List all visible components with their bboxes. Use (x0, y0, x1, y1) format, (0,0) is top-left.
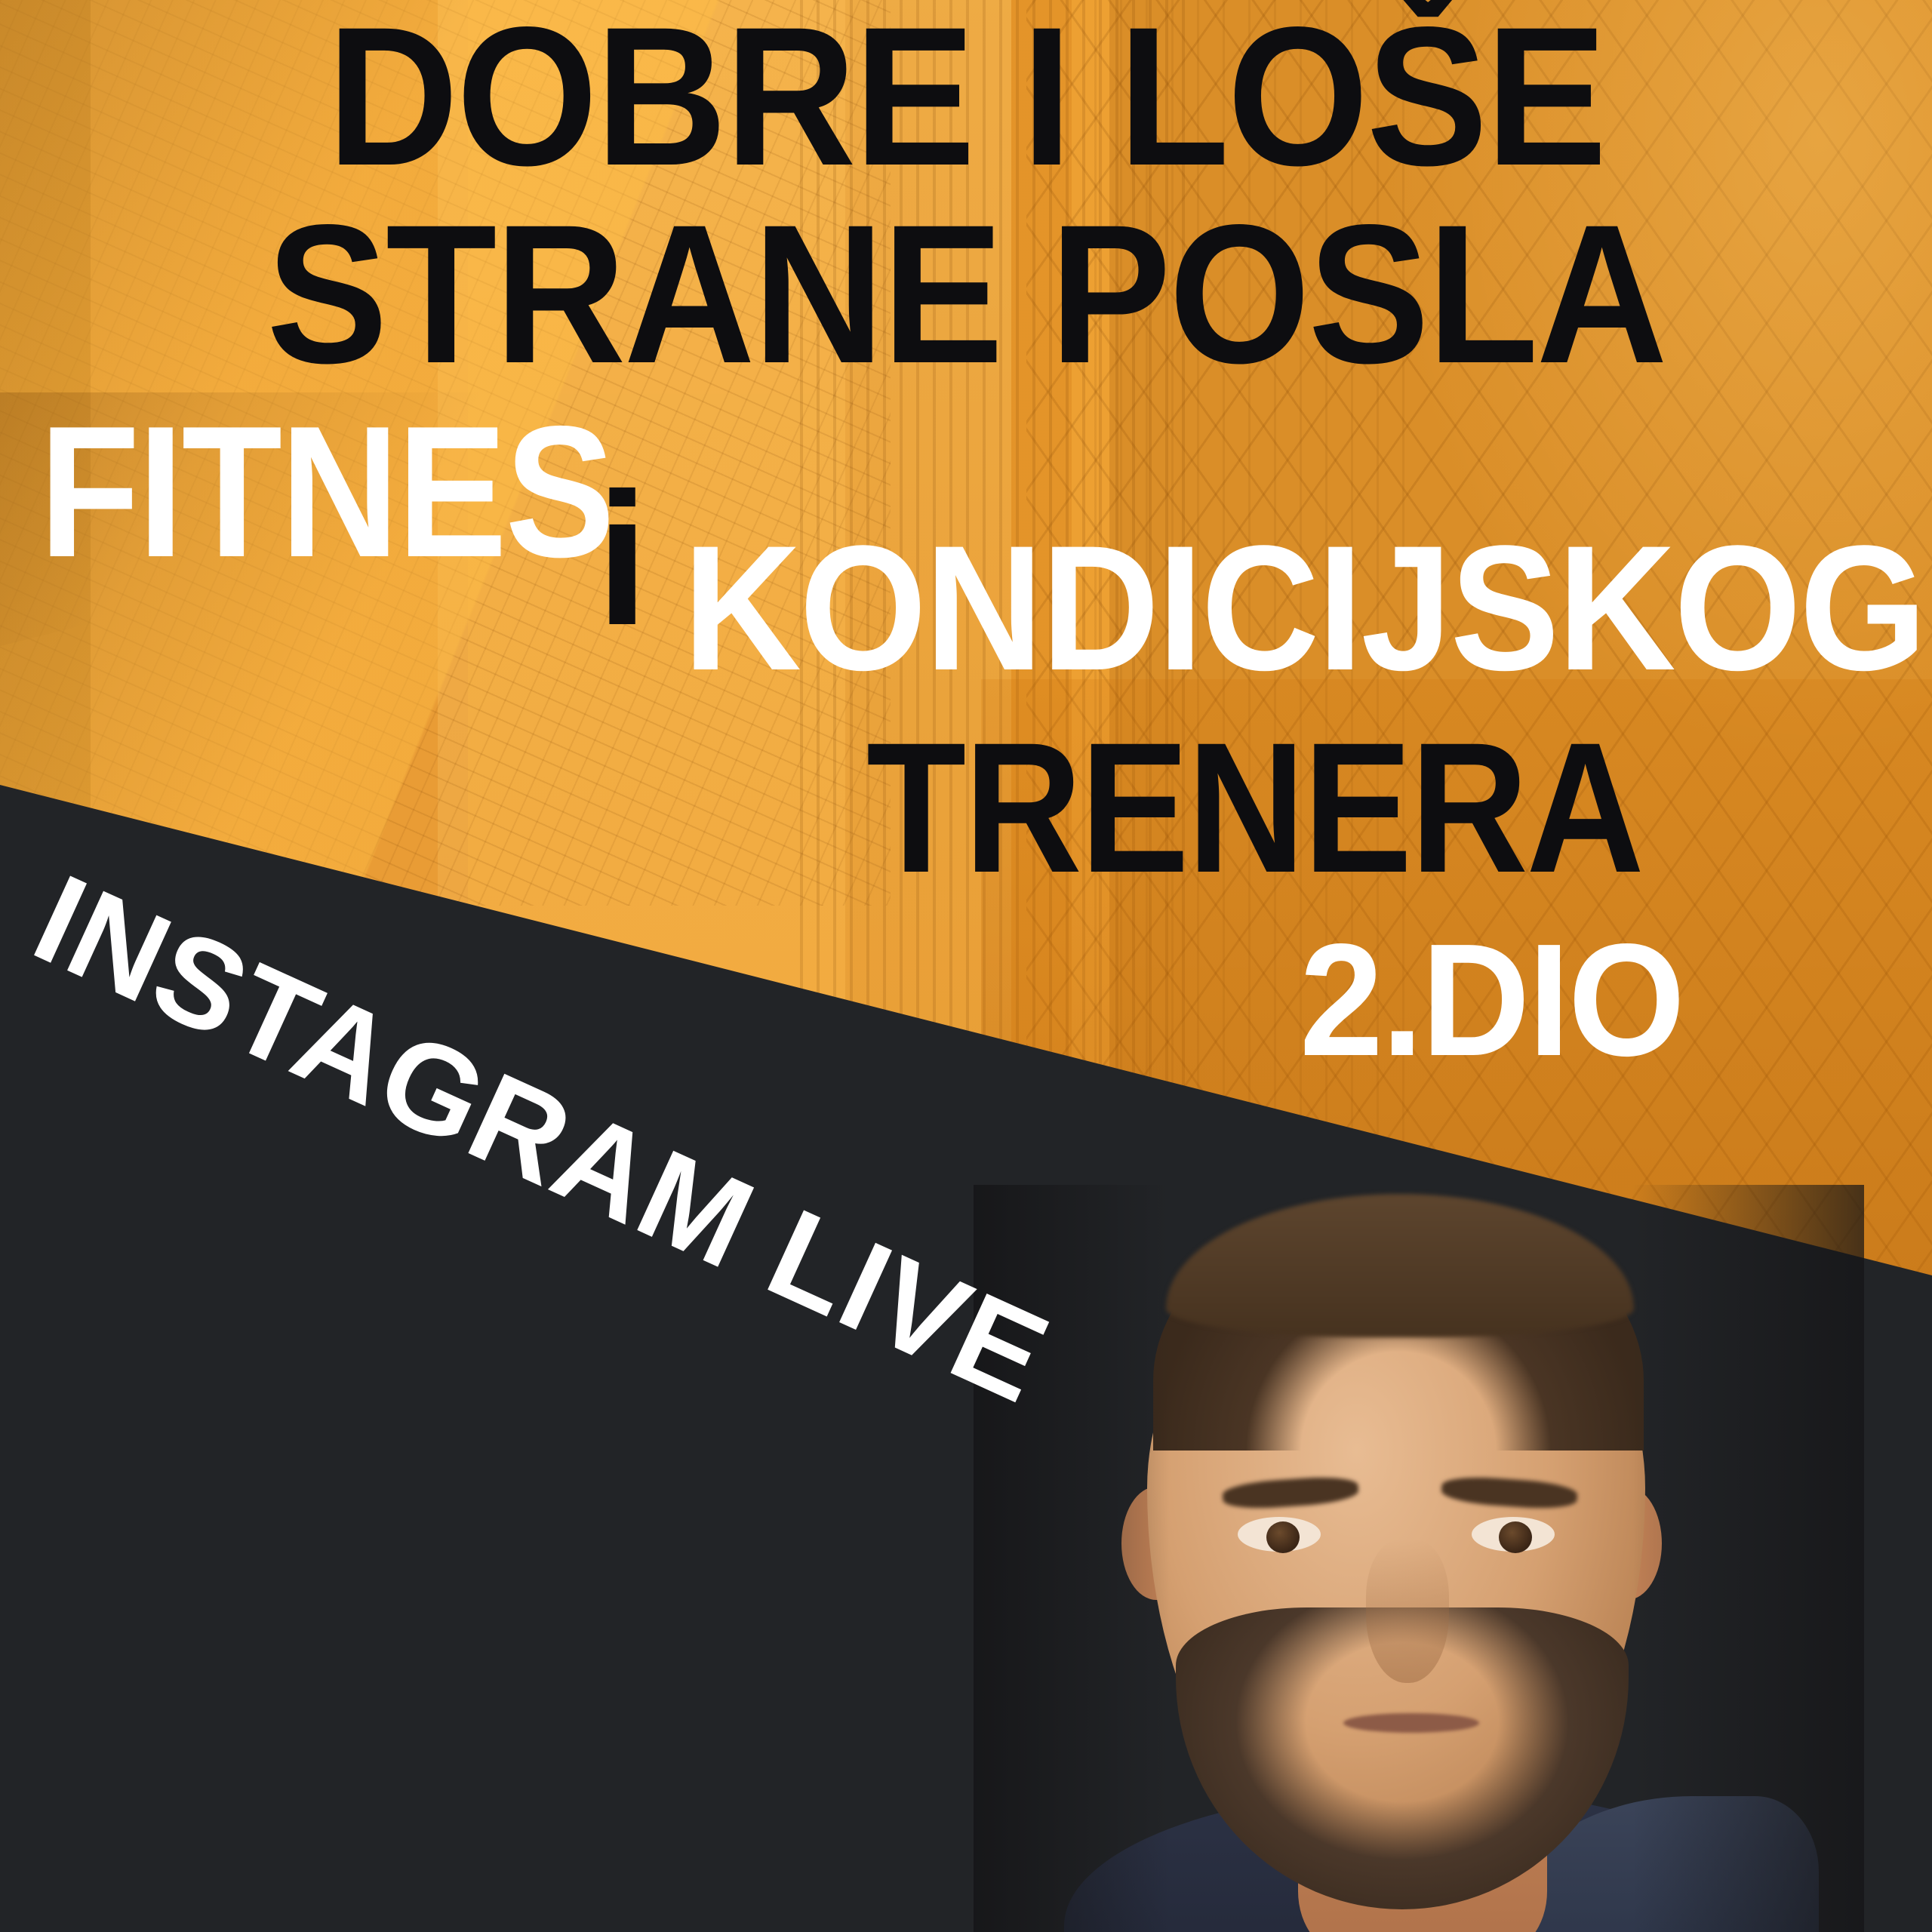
subject-conjunction: i (596, 474, 646, 644)
portrait-edge-shadow (974, 1185, 1864, 1932)
headline-line-2: STRANE POSLA (77, 205, 1854, 383)
speaker-portrait (974, 1185, 1864, 1932)
poster-canvas: DOBRE I LOŠE STRANE POSLA FITNES i KONDI… (0, 0, 1932, 1932)
subject-line-trenera: TRENERA (866, 724, 1642, 891)
headline-line-1: DOBRE I LOŠE (77, 8, 1854, 186)
part-label: 2.DIO (1300, 928, 1684, 1072)
subject-line-fitnes: FITNES (39, 408, 613, 576)
subject-line-kondicijskog: KONDICIJSKOG (683, 528, 1925, 688)
